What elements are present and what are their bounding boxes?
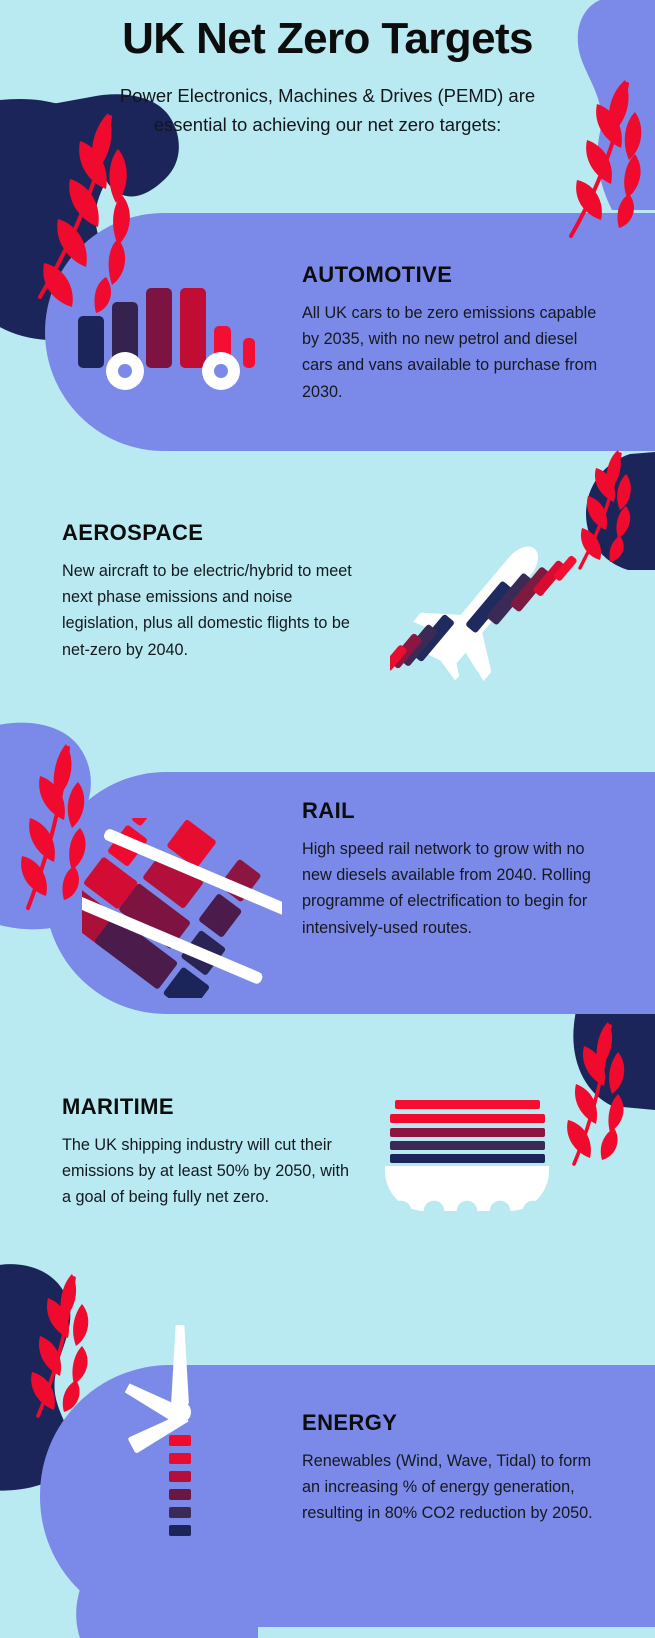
section-body: Renewables (Wind, Wave, Tidal) to form a…	[302, 1448, 610, 1527]
section-heading: AEROSPACE	[62, 520, 372, 546]
turbine-mast-segment	[169, 1489, 191, 1500]
turbine-mast-segment	[169, 1507, 191, 1518]
infographic-poster: UK Net Zero Targets Power Electronics, M…	[0, 0, 655, 1638]
section-aerospace: AEROSPACE New aircraft to be electric/hy…	[62, 520, 372, 663]
section-body: New aircraft to be electric/hybrid to me…	[62, 558, 372, 663]
turbine-mast-segment	[169, 1525, 191, 1536]
section-automotive: AUTOMOTIVE All UK cars to be zero emissi…	[302, 262, 610, 405]
page-title: UK Net Zero Targets	[0, 14, 655, 64]
section-heading: RAIL	[302, 798, 610, 824]
turbine-mast-segment	[169, 1453, 191, 1464]
section-heading: AUTOMOTIVE	[302, 262, 610, 288]
turbine-mast-segment	[169, 1471, 191, 1482]
leaf-sprig-maritime-icon	[560, 1020, 640, 1170]
airplane-icon	[390, 528, 590, 688]
railway-track-icon	[82, 818, 282, 998]
turbine-hub-icon	[169, 1401, 191, 1423]
section-heading: MARITIME	[62, 1094, 362, 1120]
poster-subtitle: Power Electronics, Machines & Drives (PE…	[113, 82, 543, 139]
section-body: All UK cars to be zero emissions capable…	[302, 300, 610, 405]
section-rail: RAIL High speed rail network to grow wit…	[302, 798, 610, 941]
turbine-mast-segment	[169, 1435, 191, 1446]
wind-turbine-icon	[120, 1325, 240, 1525]
section-body: The UK shipping industry will cut their …	[62, 1132, 362, 1211]
turbine-blade-top-icon	[171, 1325, 189, 1405]
poster-header: UK Net Zero Targets Power Electronics, M…	[0, 0, 655, 139]
section-energy: ENERGY Renewables (Wind, Wave, Tidal) to…	[302, 1410, 610, 1527]
car-bars-icon	[78, 290, 268, 390]
section-heading: ENERGY	[302, 1410, 610, 1436]
car-wheel-rear-icon	[202, 352, 240, 390]
ship-icon	[385, 1100, 550, 1205]
section-body: High speed rail network to grow with no …	[302, 836, 610, 941]
ship-wave-icon	[385, 1195, 549, 1211]
car-wheel-front-icon	[106, 352, 144, 390]
section-maritime: MARITIME The UK shipping industry will c…	[62, 1094, 362, 1211]
